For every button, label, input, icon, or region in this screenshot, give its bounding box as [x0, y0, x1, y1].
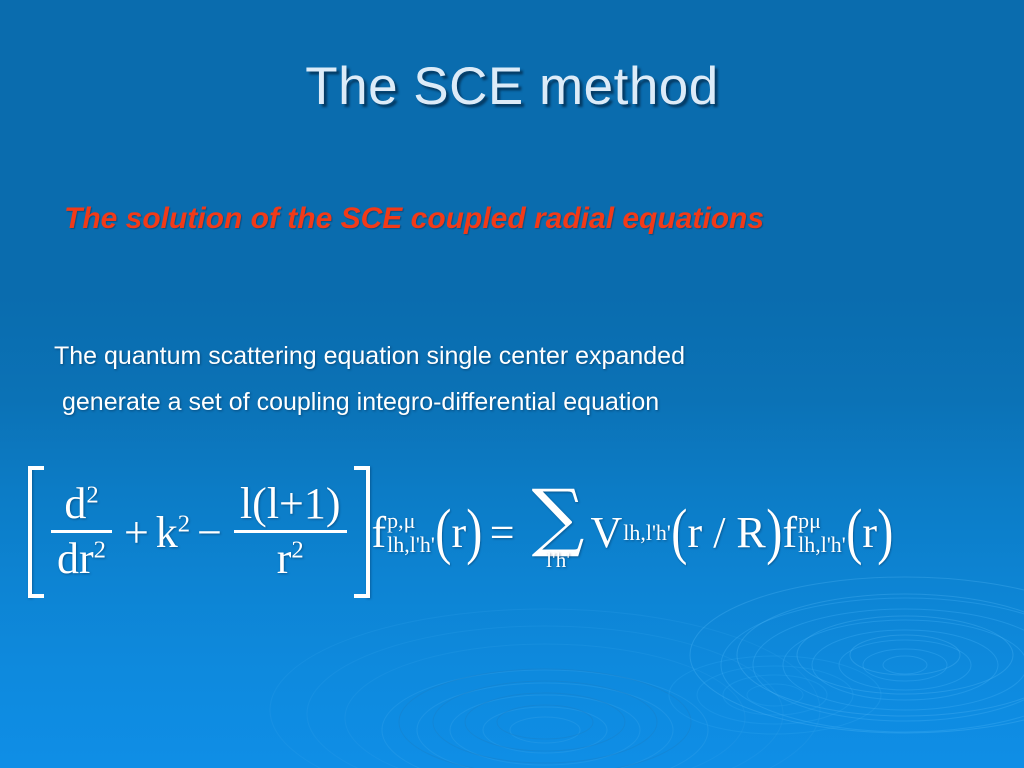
derivative-denominator: dr2	[51, 534, 112, 582]
potential-scripts: lh,l'h'	[623, 522, 671, 545]
derivative-denominator-base: dr	[57, 534, 94, 583]
radial-function-lhs-scripts: p,μ lh,l'h'	[387, 510, 435, 557]
coupling-potential: V lh,l'h'	[590, 507, 670, 558]
radius-denominator-base: r	[277, 534, 292, 583]
potential-subscript: lh,l'h'	[623, 522, 671, 545]
radial-function-lhs: f p,μ lh,l'h'	[372, 507, 435, 558]
potential-argument-value: r / R	[688, 507, 766, 558]
centrifugal-fraction: l(l+1) r2	[234, 482, 347, 582]
radial-function-rhs-argument: ( r )	[846, 507, 894, 558]
derivative-numerator: d2	[58, 482, 104, 529]
potential-symbol: V	[590, 507, 622, 558]
presentation-slide: The SCE method The solution of the SCE c…	[0, 0, 1024, 768]
wavenumber-exponent: 2	[178, 510, 190, 537]
radial-function-rhs: f pμ lh,l'h'	[782, 507, 845, 558]
radial-function-symbol: f	[782, 507, 797, 558]
paren-open-icon: (	[671, 508, 687, 556]
paren-open-icon: (	[435, 508, 451, 556]
equals-operator: =	[490, 507, 515, 558]
radius-denominator: r2	[271, 534, 310, 582]
radial-function-lhs-argument: ( r )	[435, 507, 483, 558]
bracket-open-icon	[28, 466, 44, 598]
angular-momentum-numerator: l(l+1)	[234, 482, 347, 529]
plus-operator: +	[124, 507, 149, 558]
radial-function-rhs-scripts: pμ lh,l'h'	[798, 510, 846, 557]
derivative-numerator-exponent: 2	[86, 481, 98, 508]
radial-function-rhs-subscript: lh,l'h'	[798, 534, 846, 557]
body-line-2: generate a set of coupling integro-diffe…	[54, 379, 974, 425]
section-heading: The solution of the SCE coupled radial e…	[64, 190, 884, 247]
minus-operator: −	[197, 507, 222, 558]
summation-lower-limit: l'h'	[546, 548, 570, 573]
second-derivative-fraction: d2 dr2	[51, 482, 112, 582]
paren-close-icon: )	[877, 508, 893, 556]
paren-open-icon: (	[846, 508, 862, 556]
derivative-numerator-base: d	[64, 479, 86, 528]
radius-denominator-exponent: 2	[291, 536, 303, 563]
sigma-icon: ∑	[532, 491, 585, 544]
radial-variable: r	[862, 507, 877, 558]
radial-function-symbol: f	[372, 507, 387, 558]
coupled-radial-equation: d2 dr2 + k2 − l(l+1) r2 f p,μ lh,l'h' ( …	[26, 462, 894, 602]
potential-argument: ( r / R )	[671, 507, 783, 558]
radial-function-rhs-superscript: pμ	[798, 510, 821, 533]
body-line-1: The quantum scattering equation single c…	[54, 342, 685, 370]
fraction-bar	[51, 530, 112, 533]
paren-close-icon: )	[766, 508, 782, 556]
slide-title: The SCE method	[0, 56, 1024, 117]
summation-operator: ∑ l'h'	[532, 491, 585, 573]
radial-function-lhs-superscript: p,μ	[387, 510, 415, 533]
body-text: The quantum scattering equation single c…	[54, 333, 974, 425]
fraction-bar	[234, 530, 347, 533]
wavenumber-base: k	[156, 508, 178, 557]
paren-close-icon: )	[466, 508, 482, 556]
radial-variable: r	[451, 507, 466, 558]
wavenumber-term: k2	[156, 507, 190, 558]
bracket-close-icon	[354, 466, 370, 598]
radial-function-lhs-subscript: lh,l'h'	[387, 534, 435, 557]
derivative-denominator-exponent: 2	[94, 536, 106, 563]
